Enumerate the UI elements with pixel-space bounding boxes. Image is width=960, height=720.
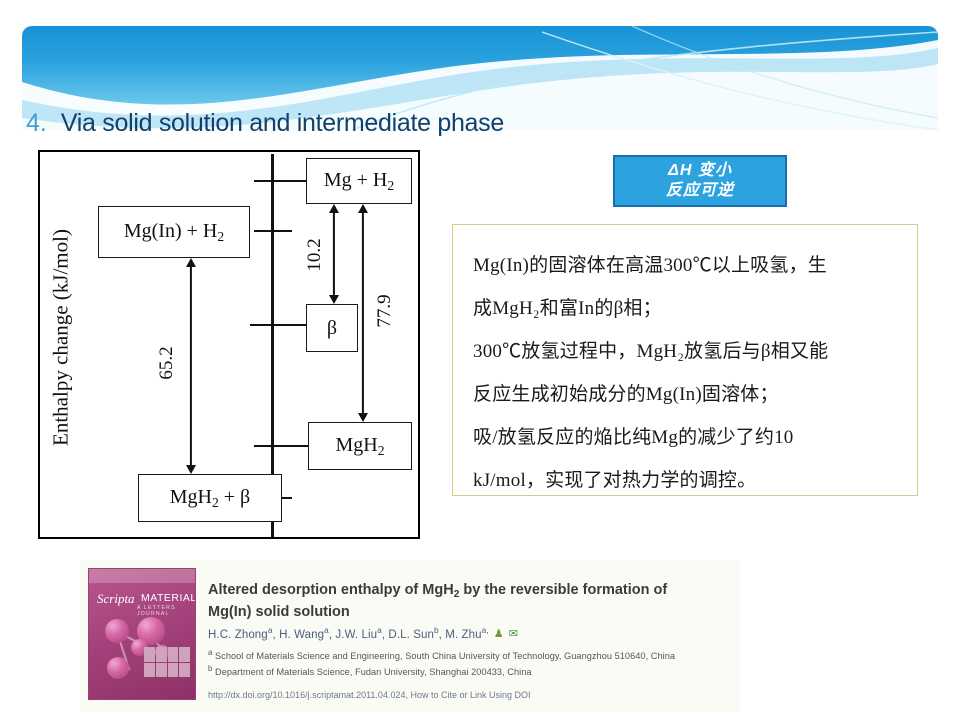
journal-affiliation-b: b Department of Materials Science, Fudan… bbox=[208, 664, 748, 677]
arrow-delta-10-2 bbox=[327, 204, 341, 304]
journal-citation-panel: Scripta MATERIALIA A LETTERS JOURNAL Alt… bbox=[80, 560, 740, 712]
slide-title-row: 4. Via solid solution and intermediate p… bbox=[22, 100, 782, 146]
level-box-mgh2: MgH2 bbox=[308, 422, 412, 470]
page-title: Via solid solution and intermediate phas… bbox=[61, 109, 504, 138]
journal-doi-link[interactable]: http://dx.doi.org/10.1016/j.scriptamat.2… bbox=[208, 690, 748, 700]
level-box-mgin-h2: Mg(In) + H2 bbox=[98, 206, 250, 258]
journal-cover-name-caps: MATERIALIA bbox=[141, 592, 196, 604]
journal-article-title-line2: Mg(In) solid solution bbox=[208, 604, 350, 620]
axis-tick-mg-h2 bbox=[254, 180, 292, 182]
description-line-6: kJ/mol，实现了对热力学的调控。 bbox=[473, 462, 899, 499]
author-mail-icon: ✉ bbox=[509, 627, 518, 640]
journal-article-title-line1: Altered desorption enthalpy of MgH2 by t… bbox=[208, 582, 667, 598]
journal-cover-name-italic: Scripta bbox=[97, 591, 135, 607]
level-label-mgh2: MgH2 bbox=[335, 434, 384, 459]
arrow-delta-65-2 bbox=[184, 258, 198, 474]
diagram-y-axis-label: Enthalpy change (kJ/mol) bbox=[49, 168, 74, 508]
level-label-mgin-h2: Mg(In) + H2 bbox=[124, 220, 224, 245]
slide-title-number: 4. bbox=[22, 109, 47, 138]
callout-line-1: ΔH 变小 bbox=[668, 162, 732, 180]
journal-authors-list: H.C. Zhonga, H. Wanga, J.W. Liua, D.L. S… bbox=[208, 626, 489, 641]
arrow-value-65-2: 65.2 bbox=[156, 340, 178, 386]
arrow-delta-77-9 bbox=[356, 204, 370, 422]
journal-cover-micrographs bbox=[144, 647, 190, 677]
description-line-4: 反应生成初始成分的Mg(In)固溶体； bbox=[473, 376, 899, 413]
level-label-mg-h2: Mg + H2 bbox=[324, 169, 394, 194]
connector-beta bbox=[250, 324, 308, 326]
level-label-mgh2-beta: MgH2 + β bbox=[170, 486, 251, 511]
description-box: Mg(In)的固溶体在高温300℃以上吸氢，生 成MgH₂和富In的β相； 30… bbox=[452, 224, 918, 496]
level-box-mgh2-beta: MgH2 + β bbox=[138, 474, 282, 522]
axis-tick-mgh2 bbox=[254, 445, 292, 447]
description-line-3: 300℃放氢过程中，MgH₂放氢后与β相又能 bbox=[473, 333, 899, 370]
description-line-1: Mg(In)的固溶体在高温300℃以上吸氢，生 bbox=[473, 247, 899, 284]
description-line-5: 吸/放氢反应的焔比纯Mg的减少了约10 bbox=[473, 419, 899, 456]
arrow-value-77-9: 77.9 bbox=[374, 288, 396, 334]
arrow-value-10-2: 10.2 bbox=[304, 232, 326, 278]
journal-authors: H.C. Zhonga, H. Wanga, J.W. Liua, D.L. S… bbox=[208, 626, 724, 641]
level-box-mg-h2: Mg + H2 bbox=[306, 158, 412, 204]
connector-mgin-h2 bbox=[254, 230, 278, 232]
journal-cover-image: Scripta MATERIALIA A LETTERS JOURNAL bbox=[88, 568, 196, 700]
author-person-icon: ♟ bbox=[494, 627, 504, 640]
slide-canvas: 4. Via solid solution and intermediate p… bbox=[0, 0, 960, 720]
connector-mg-h2 bbox=[288, 180, 308, 182]
level-label-beta: β bbox=[327, 317, 337, 340]
callout-line-2: 反应可逆 bbox=[666, 182, 734, 200]
callout-box: ΔH 变小 反应可逆 bbox=[613, 155, 787, 207]
journal-article-title: Altered desorption enthalpy of MgH2 by t… bbox=[208, 580, 724, 623]
journal-affiliation-a: a School of Materials Science and Engine… bbox=[208, 648, 748, 661]
description-line-2: 成MgH₂和富In的β相； bbox=[473, 290, 899, 327]
level-box-beta: β bbox=[306, 304, 358, 352]
journal-cover-tagline: A LETTERS JOURNAL bbox=[137, 605, 195, 617]
connector-mgh2 bbox=[288, 445, 310, 447]
enthalpy-diagram: Enthalpy change (kJ/mol) Mg + H2 Mg(In) … bbox=[38, 150, 420, 539]
